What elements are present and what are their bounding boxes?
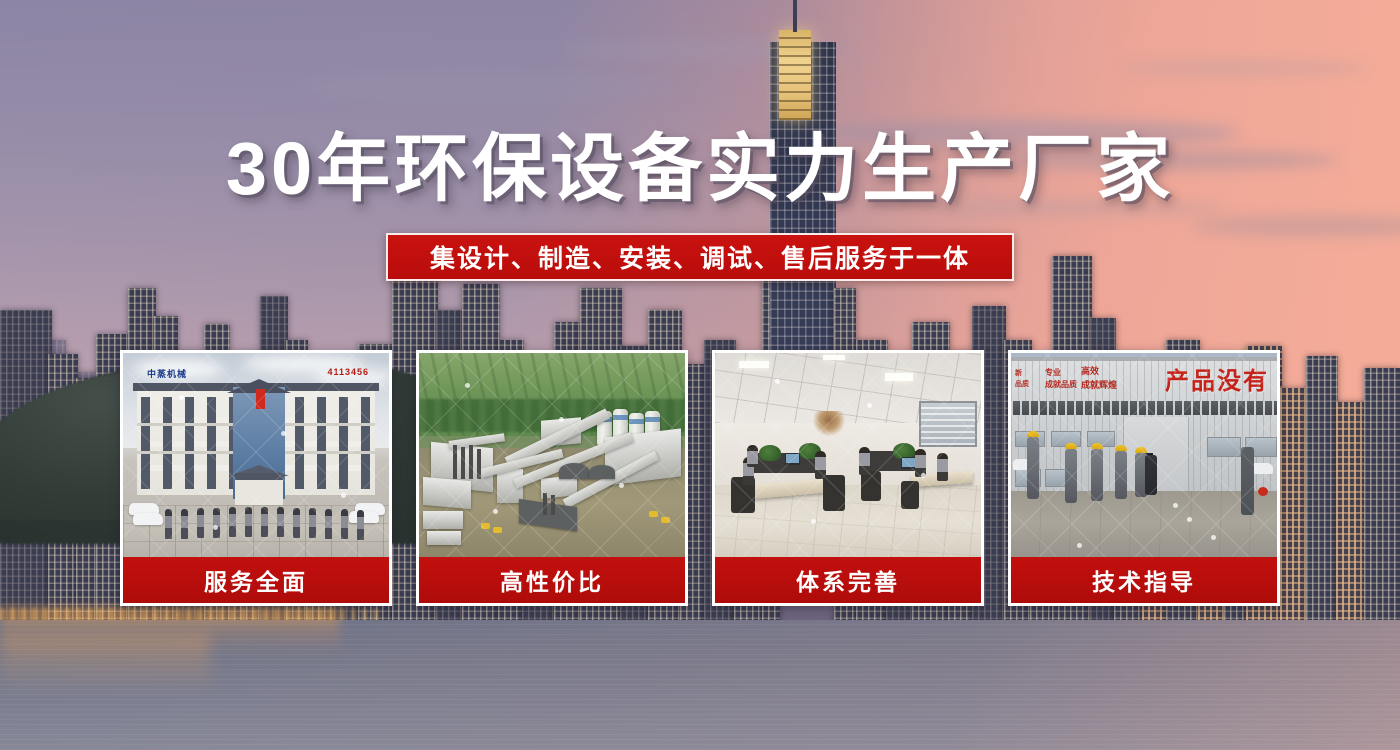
water-reflection xyxy=(0,634,210,694)
building-sign-text: 中蒸机械 xyxy=(147,367,187,380)
factory-slogan-small-2: 专业成就品质 xyxy=(1045,367,1077,391)
card-photo-headquarters: 中蒸机械 4113456 xyxy=(123,353,389,560)
card-label-text: 技术指导 xyxy=(1092,563,1196,597)
card-label-text: 服务全面 xyxy=(204,563,308,597)
feature-card-service[interactable]: 中蒸机械 4113456 xyxy=(120,350,392,606)
card-label-guidance: 技术指导 xyxy=(1011,557,1277,603)
factory-slogan-large: 产品没有 xyxy=(1165,361,1269,396)
banner-subtitle-bar: 集设计、制造、安装、调试、售后服务于一体 xyxy=(386,233,1014,281)
card-label-text: 体系完善 xyxy=(796,563,900,597)
card-label-text: 高性价比 xyxy=(500,563,604,597)
feature-card-value[interactable]: 高性价比 xyxy=(416,350,688,606)
feature-card-row: 中蒸机械 4113456 xyxy=(120,350,1280,606)
building-phone-text: 4113456 xyxy=(327,367,369,377)
factory-slogan-small-3: 高效成就辉煌 xyxy=(1081,365,1117,392)
card-label-system: 体系完善 xyxy=(715,557,981,603)
tower-lit-crown xyxy=(779,30,811,120)
banner-subtitle-text: 集设计、制造、安装、调试、售后服务于一体 xyxy=(430,239,970,275)
card-photo-office-interior xyxy=(715,353,981,560)
promotional-banner: 30年环保设备实力生产厂家 集设计、制造、安装、调试、售后服务于一体 xyxy=(0,0,1400,750)
banner-headline: 30年环保设备实力生产厂家 xyxy=(0,132,1400,206)
feature-card-system[interactable]: 体系完善 xyxy=(712,350,984,606)
factory-slogan-small-1: 新品质 xyxy=(1015,369,1029,390)
card-label-service: 服务全面 xyxy=(123,557,389,603)
feature-card-guidance[interactable]: 产品没有 新品质 专业成就品质 高效成就辉煌 xyxy=(1008,350,1280,606)
card-photo-plant-aerial xyxy=(419,353,685,560)
tower-spire xyxy=(793,0,797,32)
card-label-value: 高性价比 xyxy=(419,557,685,603)
card-photo-factory-workers: 产品没有 新品质 专业成就品质 高效成就辉煌 xyxy=(1011,353,1277,560)
